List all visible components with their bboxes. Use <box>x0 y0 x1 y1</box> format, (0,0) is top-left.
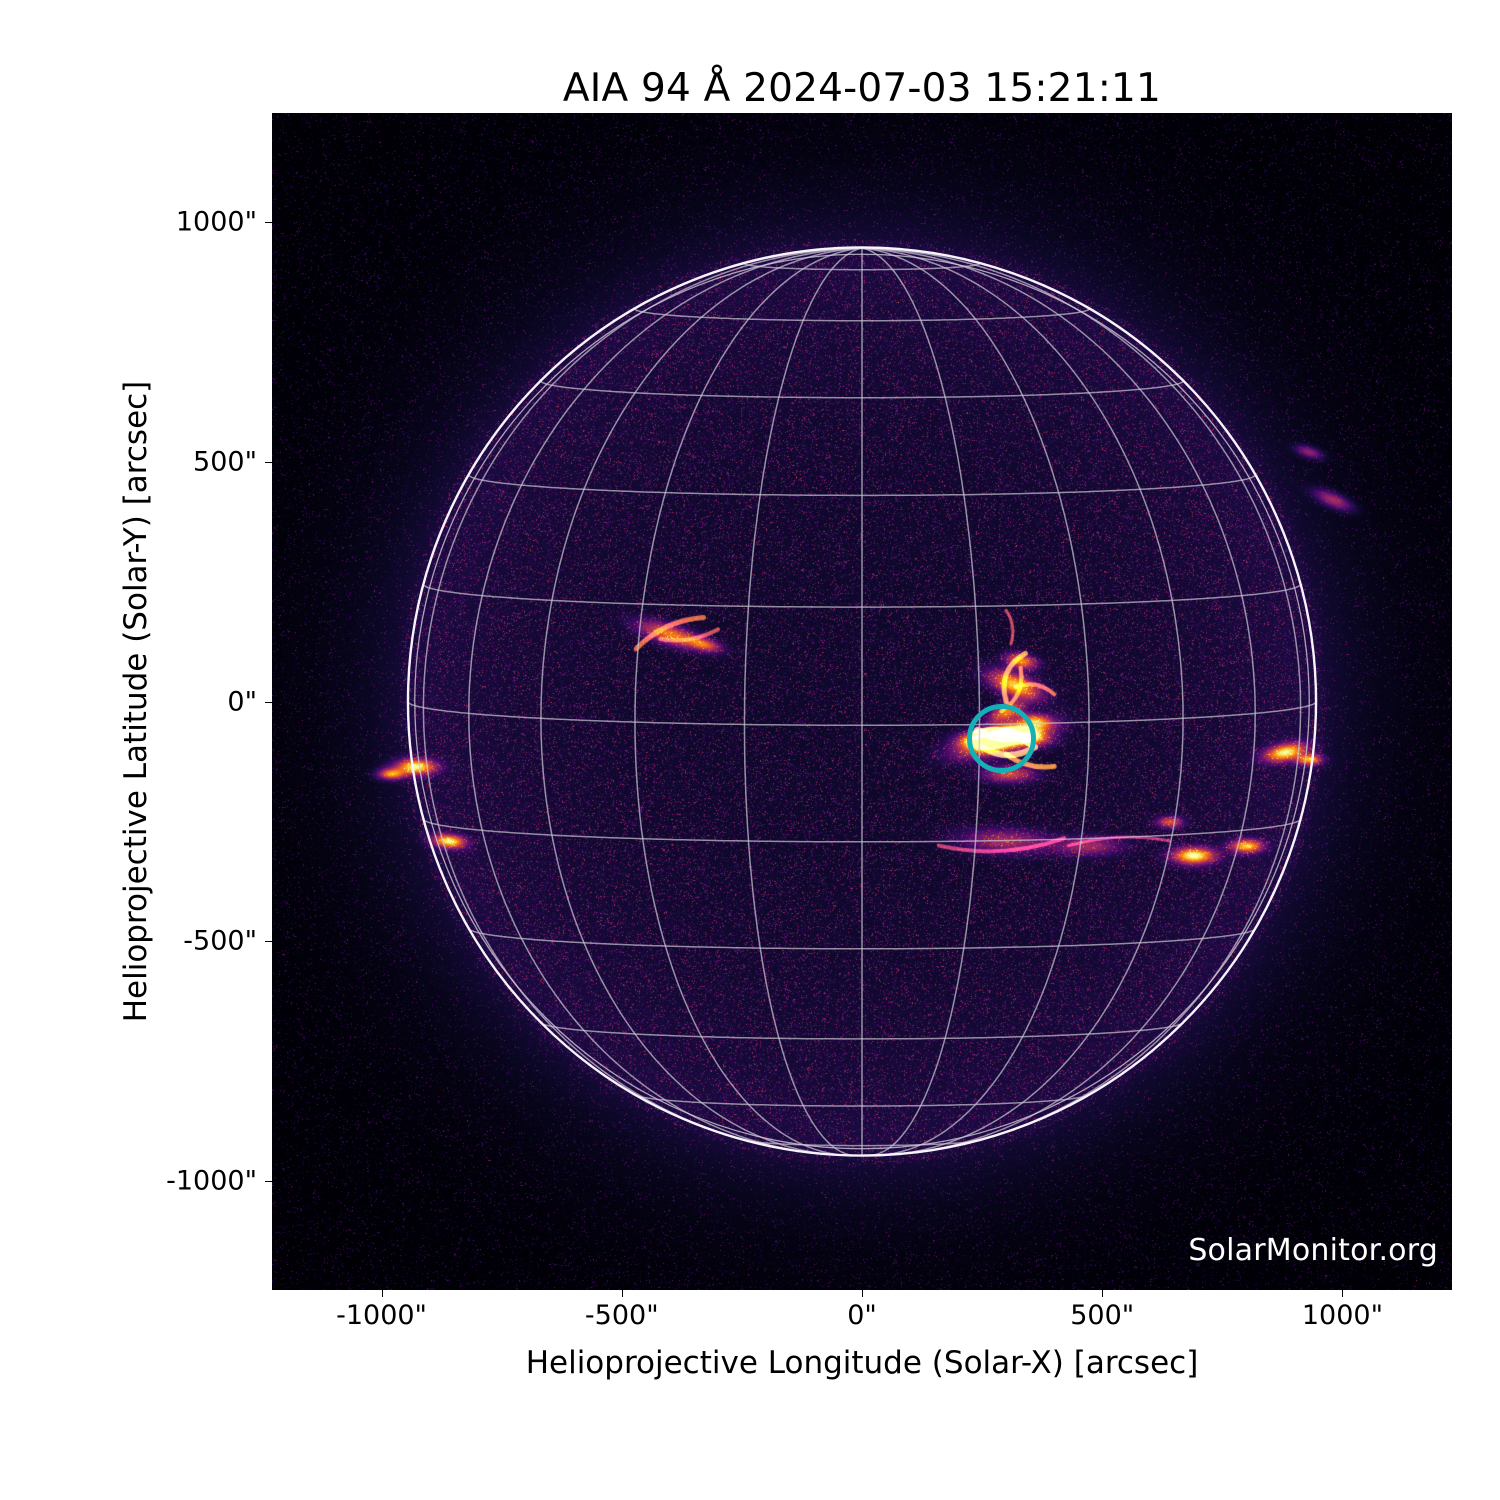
solar-image-figure: AIA 94 Å 2024-07-03 15:21:11 SolarMonito… <box>0 0 1500 1500</box>
y-axis-title-text: Helioprojective Latitude (Solar-Y) [arcs… <box>118 381 154 1023</box>
heliographic-grid <box>272 113 1452 1290</box>
y-tick-label: -500" <box>183 926 257 957</box>
x-tick-label: 1000" <box>1302 1300 1383 1331</box>
y-tick <box>265 941 272 942</box>
watermark-label: SolarMonitor.org <box>1188 1233 1438 1268</box>
x-tick <box>382 1290 383 1297</box>
y-tick-label: 0" <box>227 686 257 717</box>
y-tick-label: 1000" <box>176 207 257 238</box>
figure-title: AIA 94 Å 2024-07-03 15:21:11 <box>0 66 1500 111</box>
grid-line <box>745 248 863 1155</box>
x-axis-title: Helioprojective Longitude (Solar-X) [arc… <box>0 1345 1500 1381</box>
y-tick <box>265 1181 272 1182</box>
x-tick <box>1102 1290 1103 1297</box>
grid-line <box>635 248 862 1155</box>
x-tick-label: -500" <box>585 1300 659 1331</box>
x-tick-label: 500" <box>1070 1300 1134 1331</box>
y-tick-label: -1000" <box>166 1165 257 1196</box>
y-tick <box>265 222 272 223</box>
grid-line <box>862 248 1089 1155</box>
x-tick <box>1342 1290 1343 1297</box>
x-axis-title-text: Helioprojective Longitude (Solar-X) [arc… <box>526 1345 1199 1381</box>
y-tick-label: 500" <box>193 446 257 477</box>
x-tick <box>862 1290 863 1297</box>
figure-title-text: AIA 94 Å 2024-07-03 15:21:11 <box>563 66 1161 111</box>
image-plot-area[interactable]: SolarMonitor.org <box>272 113 1452 1290</box>
y-axis-title: Helioprojective Latitude (Solar-Y) [arcs… <box>118 113 158 1290</box>
grid-line <box>862 248 1255 1154</box>
active-region-marker-circle[interactable] <box>967 704 1036 773</box>
grid-line <box>469 248 862 1154</box>
x-tick-label: 0" <box>847 1300 877 1331</box>
grid-line <box>862 248 980 1155</box>
x-tick-label: -1000" <box>336 1300 427 1331</box>
x-tick <box>622 1290 623 1297</box>
y-tick <box>265 462 272 463</box>
y-tick <box>265 702 272 703</box>
